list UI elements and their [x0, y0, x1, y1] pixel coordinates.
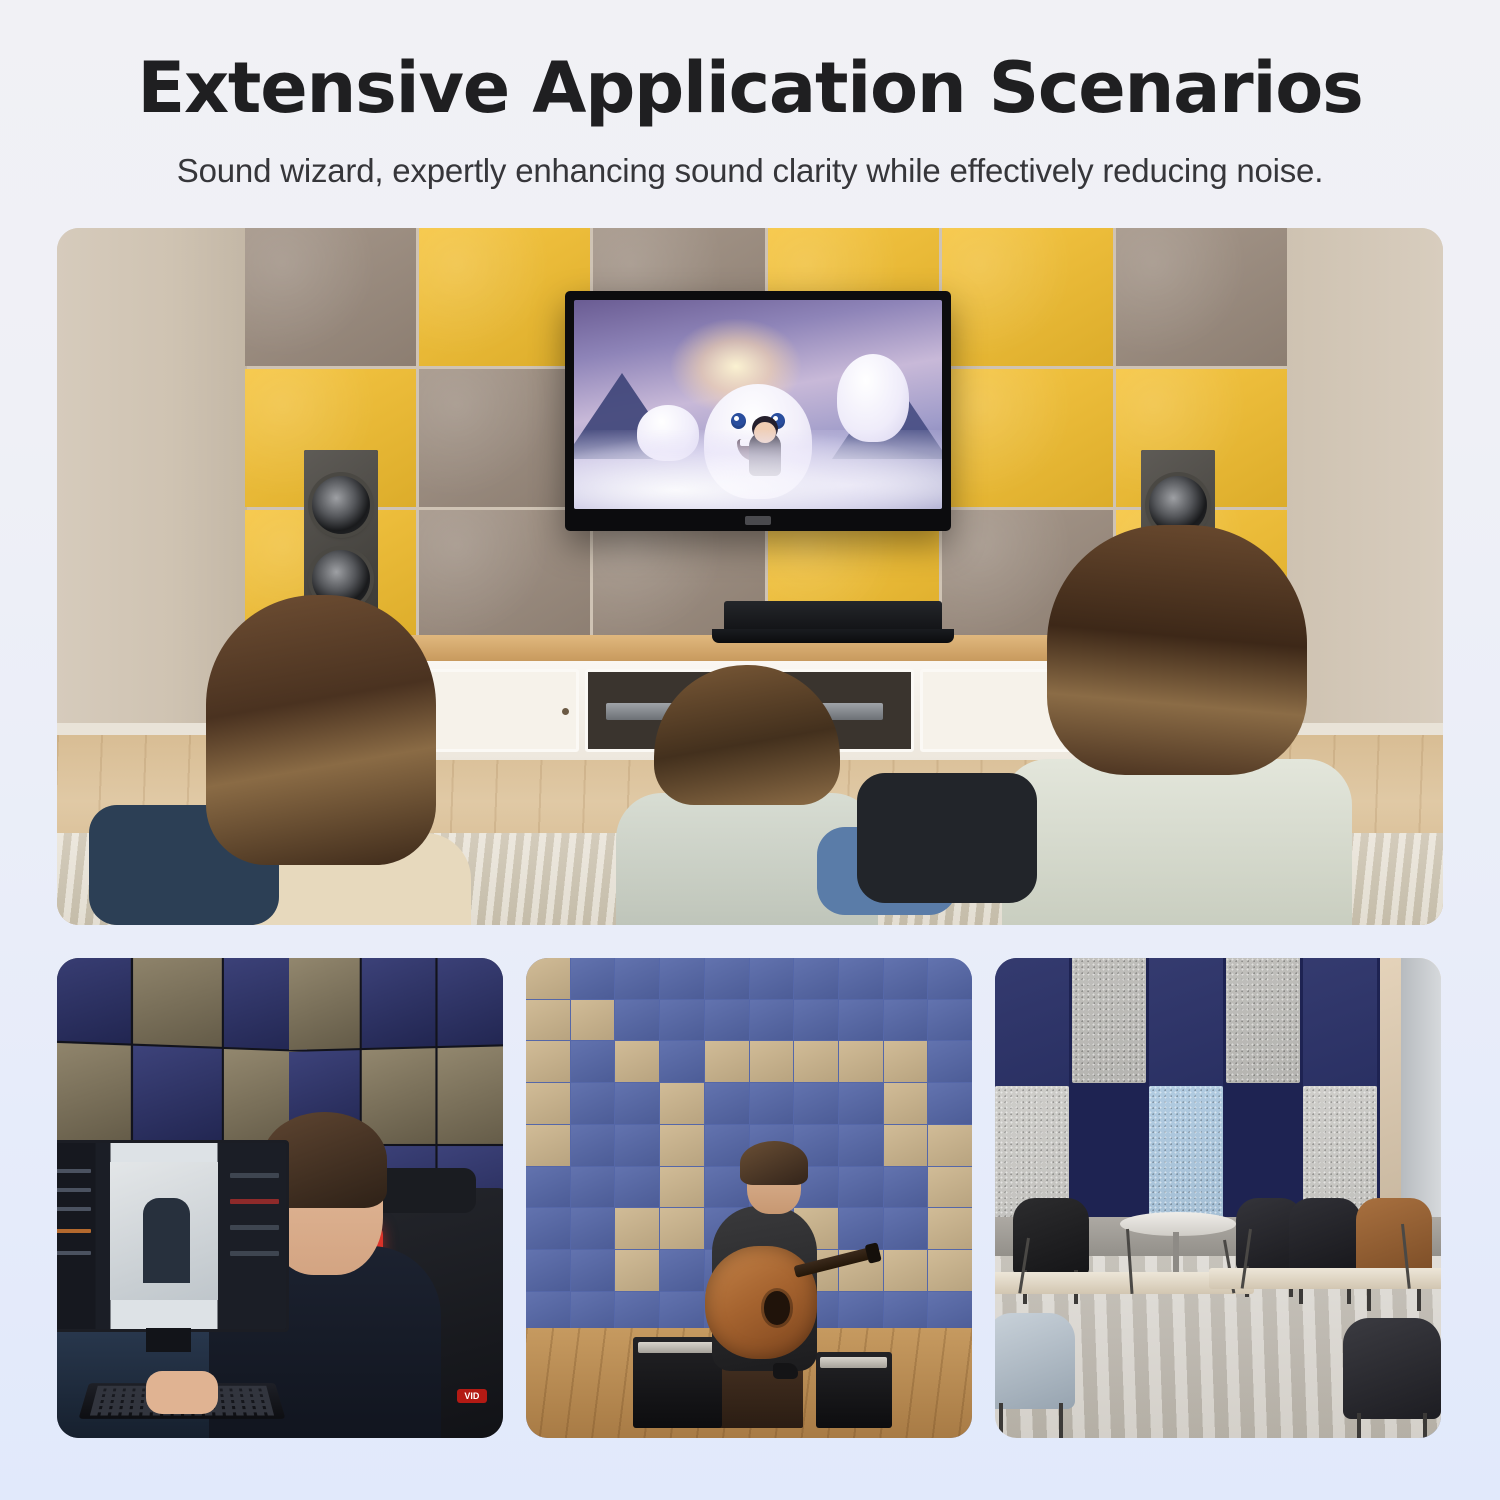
maze-panel-blue [615, 1167, 659, 1208]
studio-panel-navy [362, 958, 436, 1048]
maze-panel-blue [615, 1292, 659, 1333]
maze-panel-blue [660, 1000, 704, 1041]
maze-panel-blue [526, 1250, 570, 1291]
person-hair [1047, 525, 1307, 775]
maze-panel-tan [526, 958, 570, 999]
maze-panel-blue [660, 1041, 704, 1082]
studio-panel-olive [57, 1042, 131, 1144]
timeline-clip [57, 1207, 91, 1211]
maze-panel-blue [839, 1000, 883, 1041]
maze-panel-tan [615, 1250, 659, 1291]
television [565, 291, 951, 531]
maze-panel-blue [571, 1083, 615, 1124]
tv-screen [574, 300, 942, 509]
acoustic-panel-yellow [942, 228, 1113, 366]
maze-panel-tan [615, 1208, 659, 1249]
hero-image-home-theater [57, 228, 1443, 925]
tv-brand-logo [745, 516, 771, 525]
maze-panel-tan [526, 1000, 570, 1041]
speaker-driver-top [312, 476, 370, 534]
tool-panel-row [230, 1225, 279, 1230]
maze-panel-tan [928, 1208, 972, 1249]
maze-panel-tan [750, 1041, 794, 1082]
chair-dark-center-right [1289, 1198, 1360, 1275]
maze-panel-blue [571, 1041, 615, 1082]
person-child-center [597, 665, 897, 925]
scenario-thumbnail-row: VID [57, 958, 1443, 1438]
timeline-clip [57, 1169, 91, 1173]
maze-panel-tan [526, 1125, 570, 1166]
thumb-office-meeting-room [995, 958, 1441, 1438]
maze-panel-tan [660, 1083, 704, 1124]
guitar-sound-hole [764, 1291, 791, 1325]
maze-panel-blue [615, 1125, 659, 1166]
studio-panel-olive [289, 958, 360, 1050]
editing-monitor [57, 1140, 289, 1332]
soundbar [724, 601, 942, 635]
maze-panel-blue [928, 958, 972, 999]
maze-panel-blue [615, 1083, 659, 1124]
maze-panel-tan [526, 1083, 570, 1124]
page-subtitle: Sound wizard, expertly enhancing sound c… [56, 152, 1444, 190]
maze-panel-blue [526, 1292, 570, 1333]
editor-hand [146, 1371, 217, 1414]
tv-bezel-bottom [565, 509, 951, 531]
maze-panel-blue [794, 1000, 838, 1041]
promo-page: Extensive Application Scenarios Sound wi… [0, 0, 1500, 1500]
maze-panel-tan [884, 1250, 928, 1291]
maze-panel-blue [571, 958, 615, 999]
maze-panel-blue [839, 1083, 883, 1124]
person-hair [654, 665, 840, 805]
guitarist-shoe [773, 1363, 799, 1379]
maze-panel-blue [750, 958, 794, 999]
conference-panel-grey_speck [1072, 958, 1146, 1083]
maze-panel-tan [705, 1041, 749, 1082]
maze-panel-blue [750, 1083, 794, 1124]
maze-panel-tan [526, 1041, 570, 1082]
conference-panel-grey_speck [1226, 958, 1300, 1083]
maze-panel-blue [884, 1292, 928, 1333]
tool-panel-row [230, 1251, 279, 1256]
timeline-clip [57, 1229, 91, 1233]
maze-panel-blue [884, 1167, 928, 1208]
maze-panel-blue [928, 1000, 972, 1041]
maze-panel-blue [571, 1292, 615, 1333]
person-hair [206, 595, 436, 865]
studio-panel-olive [133, 958, 222, 1047]
acoustic-guitar [705, 1246, 817, 1359]
maze-panel-blue [884, 958, 928, 999]
maze-panel-blue [928, 1083, 972, 1124]
maze-panel-blue [884, 1208, 928, 1249]
maze-panel-blue [571, 1167, 615, 1208]
maze-panel-tan [615, 1041, 659, 1082]
person-woman-left [141, 595, 501, 925]
studio-panel-navy [133, 1046, 222, 1144]
chair-light-blue-front [995, 1313, 1075, 1409]
thumb-guitar-practice-room [526, 958, 972, 1438]
maze-panel-blue [928, 1292, 972, 1333]
maze-panel-blue [839, 958, 883, 999]
maze-panel-tan [571, 1000, 615, 1041]
video-preview [110, 1162, 217, 1300]
maze-panel-blue [705, 1000, 749, 1041]
maze-panel-tan [884, 1041, 928, 1082]
acoustic-panel-taupe [1116, 228, 1287, 366]
monitor-stand [146, 1328, 191, 1352]
maze-panel-blue [526, 1167, 570, 1208]
guitarist [695, 1169, 856, 1371]
chair-brand-logo: VID [457, 1389, 487, 1403]
tool-panel-row [230, 1173, 279, 1178]
acoustic-panel-yellow [942, 369, 1113, 507]
meeting-table-right [1209, 1268, 1441, 1290]
maze-panel-blue [928, 1041, 972, 1082]
person-woman-right [967, 525, 1387, 925]
maze-panel-blue [794, 958, 838, 999]
maze-panel-blue [705, 958, 749, 999]
timeline-clip [57, 1188, 91, 1192]
person-body [1002, 759, 1352, 925]
maze-panel-blue [571, 1250, 615, 1291]
maze-panel-blue [839, 1125, 883, 1166]
header: Extensive Application Scenarios Sound wi… [0, 0, 1500, 190]
chair-dark-front-right [1343, 1318, 1441, 1419]
studio-panel-navy [57, 958, 131, 1044]
maze-panel-tan [928, 1250, 972, 1291]
maze-panel-tan [928, 1167, 972, 1208]
maze-panel-blue [794, 1083, 838, 1124]
page-title: Extensive Application Scenarios [56, 52, 1444, 126]
studio-panel-navy [438, 958, 503, 1046]
maze-panel-blue [615, 1000, 659, 1041]
maze-panel-blue [615, 958, 659, 999]
maze-panel-blue [526, 1208, 570, 1249]
maze-panel-tan [839, 1041, 883, 1082]
maze-panel-tan [794, 1041, 838, 1082]
maze-panel-tan [928, 1125, 972, 1166]
maze-panel-blue [750, 1000, 794, 1041]
maze-panel-blue [660, 958, 704, 999]
cabinet-knob [562, 708, 569, 715]
person-arm [857, 773, 1037, 903]
guitarist-hair [740, 1141, 807, 1185]
maze-panel-blue [571, 1125, 615, 1166]
acoustic-panel-taupe [245, 228, 416, 366]
timeline-clip [57, 1251, 91, 1255]
tool-panel-row [230, 1199, 279, 1204]
thumb-video-editing-studio: VID [57, 958, 503, 1438]
maze-panel-tan [660, 1125, 704, 1166]
scenario-gallery: VID [57, 228, 1443, 925]
maze-panel-tan [884, 1083, 928, 1124]
maze-panel-blue [705, 1083, 749, 1124]
studio-panel-olive [438, 1046, 503, 1144]
cloud-layer [574, 430, 942, 509]
maze-panel-tan [884, 1125, 928, 1166]
maze-panel-blue [884, 1000, 928, 1041]
yeti-eye-left [731, 413, 746, 429]
maze-panel-blue [571, 1208, 615, 1249]
